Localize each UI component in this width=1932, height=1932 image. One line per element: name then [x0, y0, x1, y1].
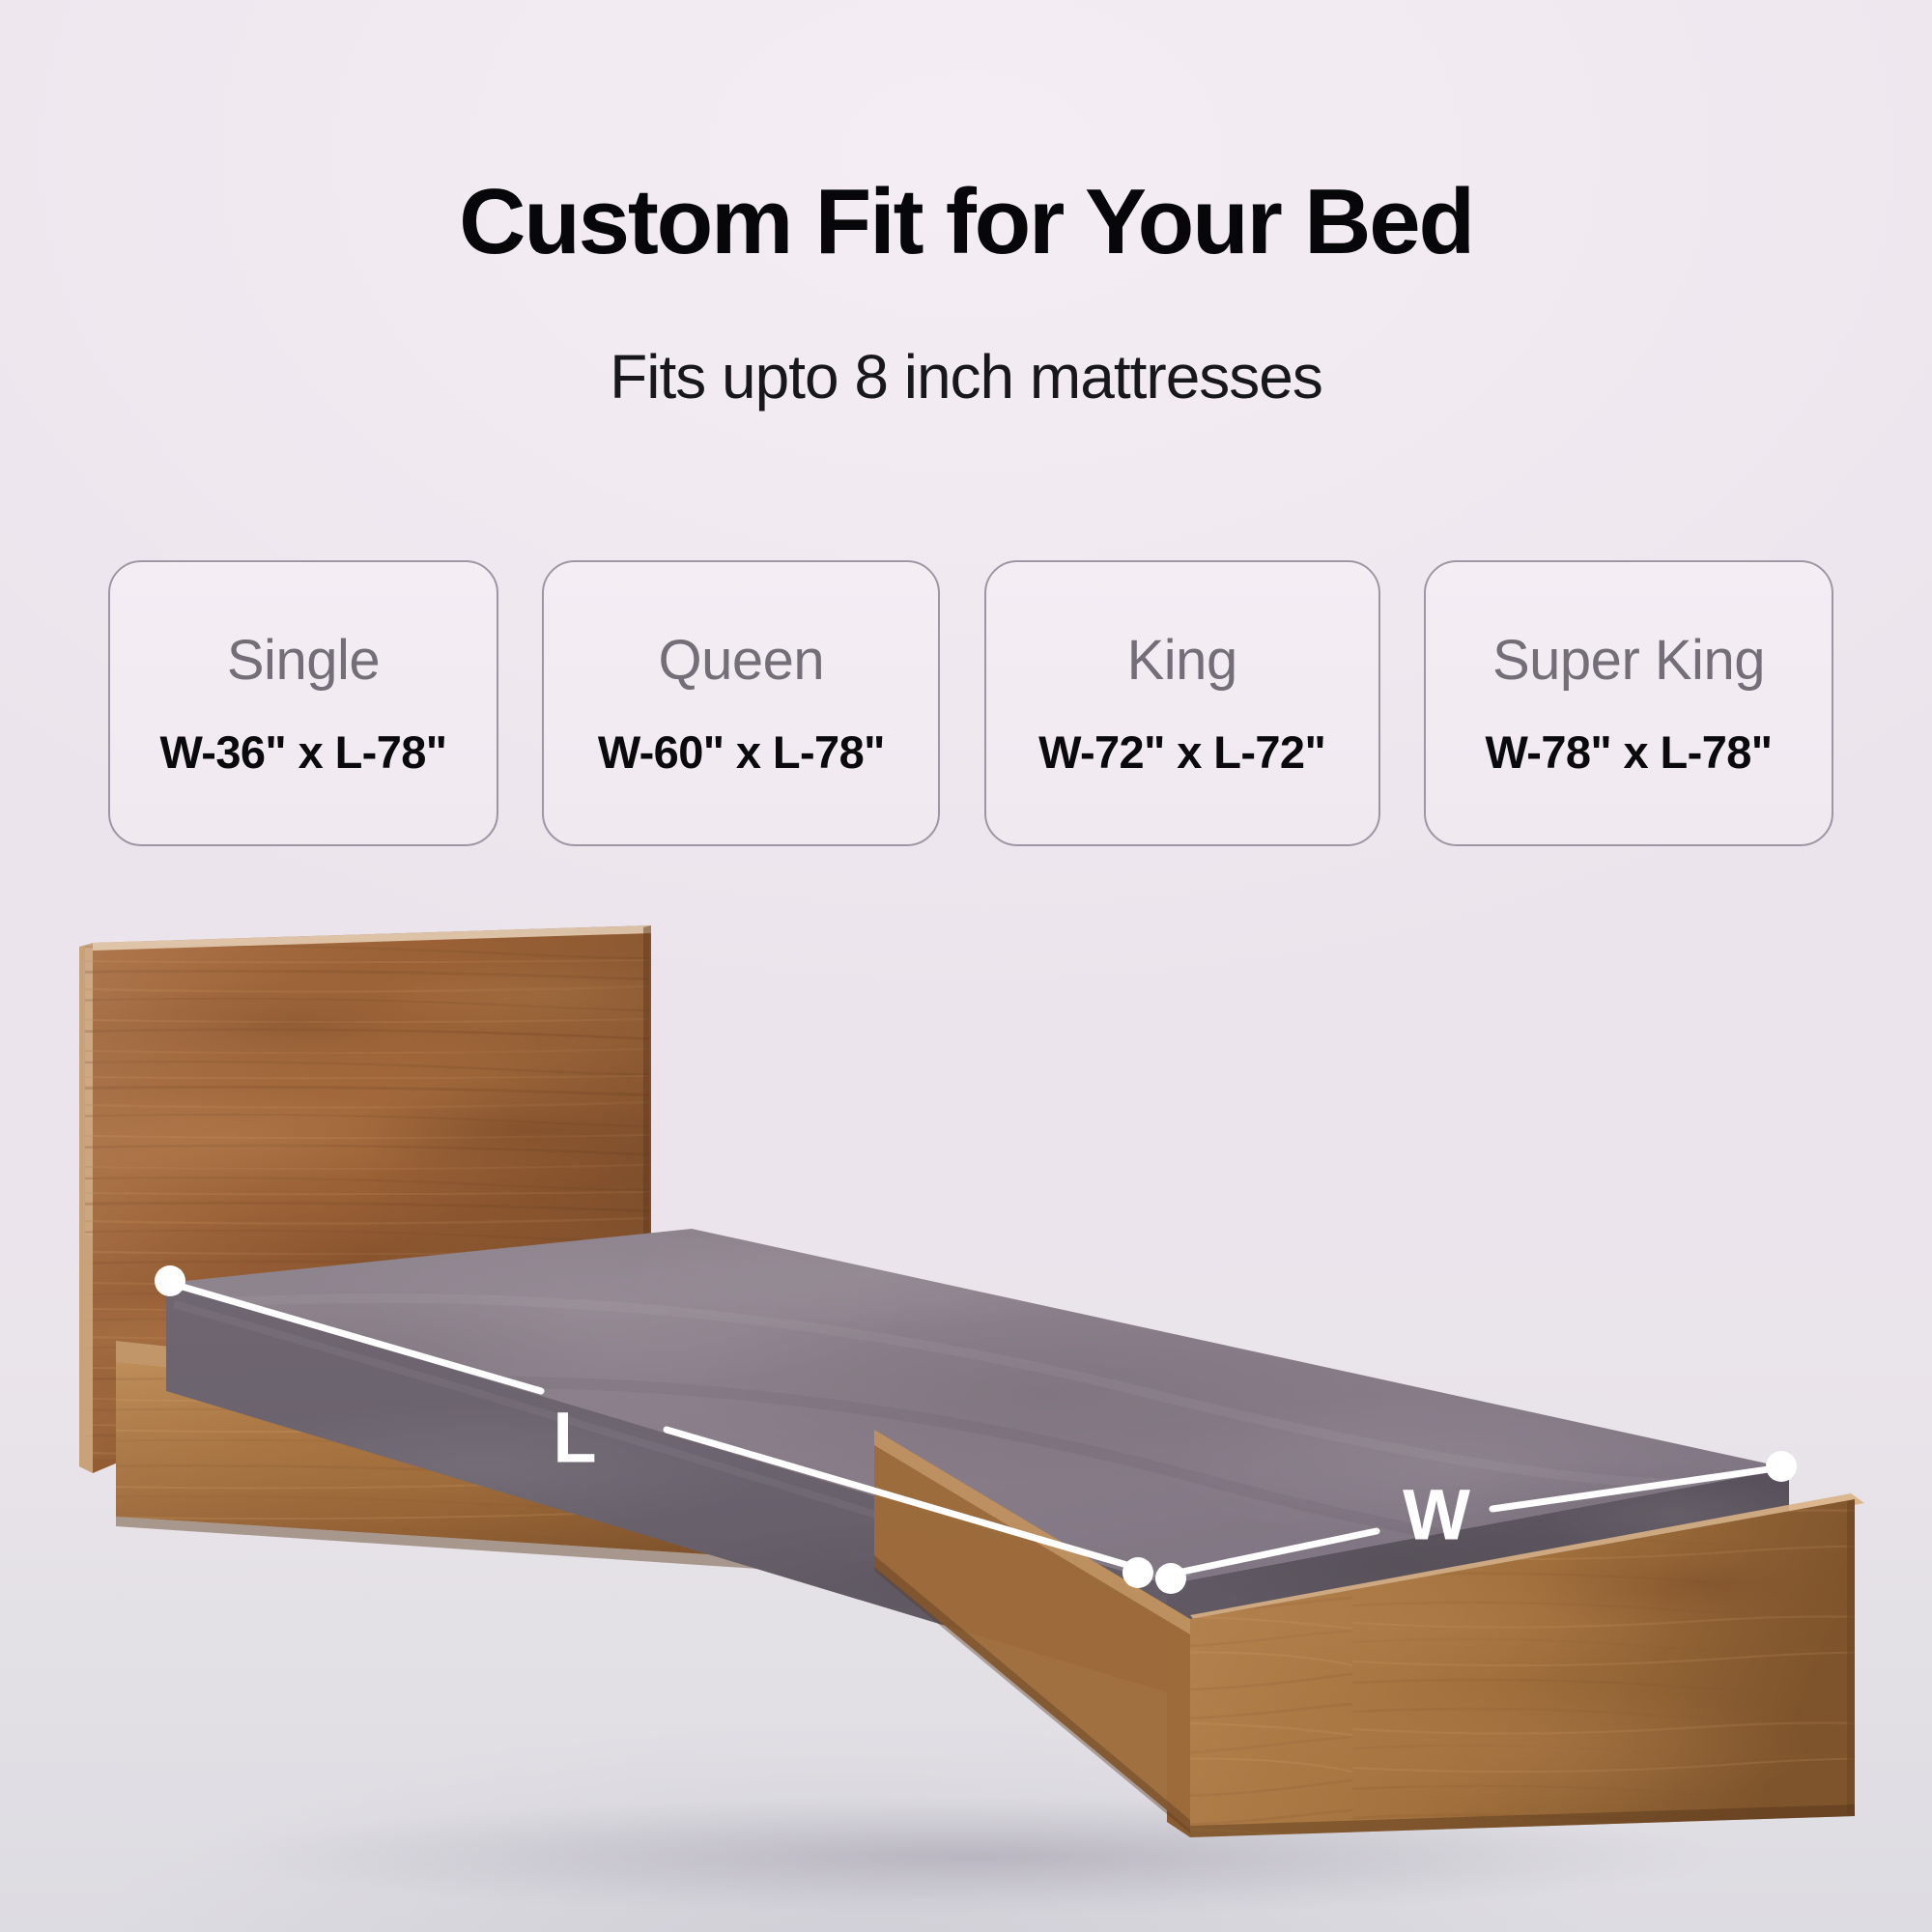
- bed-illustration: L W: [0, 850, 1932, 1932]
- length-label: L: [553, 1398, 596, 1478]
- page-title: Custom Fit for Your Bed: [0, 176, 1932, 269]
- size-card-super-king[interactable]: Super King W-78" x L-78": [1424, 560, 1833, 846]
- size-card-dimensions: W-60" x L-78": [598, 729, 885, 775]
- size-card-name: Single: [227, 633, 380, 689]
- size-card-name: King: [1127, 633, 1237, 689]
- size-card-list: Single W-36" x L-78" Queen W-60" x L-78"…: [108, 560, 1833, 846]
- size-card-dimensions: W-72" x L-72": [1038, 729, 1325, 775]
- size-card-single[interactable]: Single W-36" x L-78": [108, 560, 498, 846]
- width-endpoint-dot-foot: [1155, 1563, 1186, 1594]
- width-label: W: [1403, 1475, 1470, 1555]
- size-card-dimensions: W-78" x L-78": [1485, 729, 1772, 775]
- headboard-right-edge: [643, 925, 651, 1242]
- infographic-canvas: Custom Fit for Your Bed Fits upto 8 inch…: [0, 0, 1932, 1932]
- width-endpoint-dot-right: [1766, 1451, 1797, 1482]
- length-endpoint-dot-head: [155, 1265, 185, 1296]
- size-card-dimensions: W-36" x L-78": [159, 729, 446, 775]
- footboard-right-edge: [1847, 1499, 1855, 1816]
- size-card-king[interactable]: King W-72" x L-72": [984, 560, 1380, 846]
- size-card-name: Super King: [1492, 633, 1765, 689]
- size-card-queen[interactable]: Queen W-60" x L-78": [542, 560, 940, 846]
- size-card-name: Queen: [659, 633, 825, 689]
- page-subtitle: Fits upto 8 inch mattresses: [0, 346, 1932, 408]
- length-endpoint-dot-foot: [1122, 1557, 1153, 1588]
